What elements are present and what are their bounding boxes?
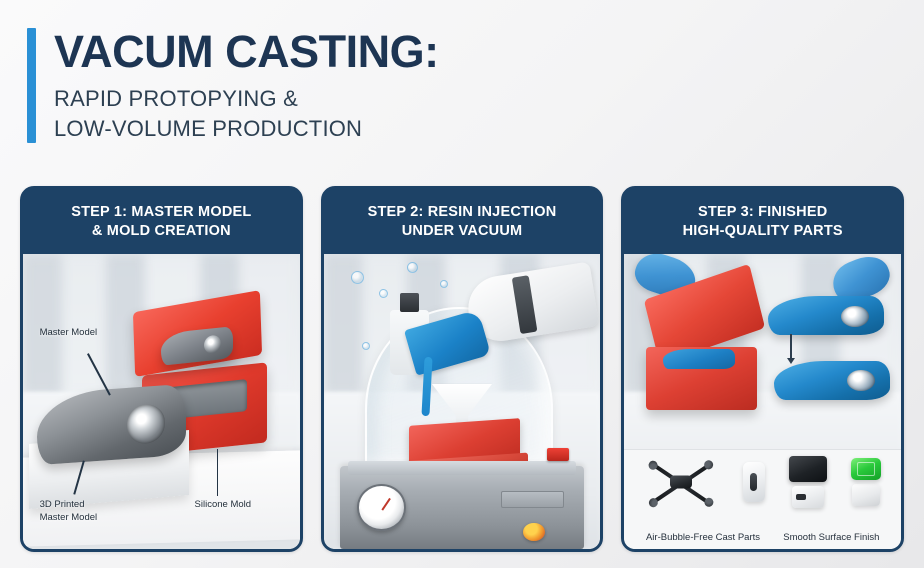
drone-body (670, 476, 692, 489)
arrow-down-icon (790, 334, 792, 359)
step-1-panel: STEP 1: MASTER MODEL & MOLD CREATION Mas… (20, 186, 303, 552)
cast-part-in-mold (663, 349, 735, 368)
step-2-header-line-2: UNDER VACUUM (330, 222, 595, 241)
step-1-image: Master Model 3D Printed Master Model Sil… (23, 254, 300, 549)
leader-line-silicone-mold (217, 449, 219, 496)
caption-air-bubble-free-cast-parts: Air-Bubble-Free Cast Parts (646, 532, 760, 543)
white-enclosure-thumbnail (792, 486, 824, 508)
step-2-panel: STEP 2: RESIN INJECTION UNDER VACUUM (321, 186, 604, 552)
machine-top-plate (348, 461, 577, 476)
step-1-header-line-2: & MOLD CREATION (29, 222, 294, 241)
thumbnail-captions: Air-Bubble-Free Cast Parts Smooth Surfac… (624, 532, 901, 543)
vacuum-casting-machine (340, 466, 583, 549)
callout-master-model: Master Model (40, 327, 98, 340)
machine-nameplate (501, 491, 564, 508)
finished-cast-part-upper (768, 296, 884, 335)
callout-3d-printed-master-model: 3D Printed Master Model (40, 499, 98, 525)
title-block: VACUM CASTING: RAPID PROTOPYING & LOW-VO… (27, 28, 439, 143)
step-3-image: Air-Bubble-Free Cast Parts Smooth Surfac… (624, 254, 901, 549)
page-title: VACUM CASTING: (54, 28, 439, 75)
step-2-header: STEP 2: RESIN INJECTION UNDER VACUUM (324, 189, 601, 254)
infographic-page: VACUM CASTING: RAPID PROTOPYING & LOW-VO… (0, 0, 924, 568)
robotic-arm-joint (512, 275, 537, 334)
black-enclosure-thumbnail (789, 456, 827, 482)
step-2-header-line-1: STEP 2: RESIN INJECTION (330, 203, 595, 222)
drone-thumbnail (644, 461, 718, 503)
product-gallery: Air-Bubble-Free Cast Parts Smooth Surfac… (624, 449, 901, 549)
resin-bottle-cap (400, 293, 419, 312)
control-knob[interactable] (523, 523, 545, 541)
steps-container: STEP 1: MASTER MODEL & MOLD CREATION Mas… (20, 186, 904, 552)
step-1-header: STEP 1: MASTER MODEL & MOLD CREATION (23, 189, 300, 254)
pressure-gauge-icon (357, 484, 406, 530)
caption-smooth-surface-finish: Smooth Surface Finish (783, 532, 879, 543)
step-3-header: STEP 3: FINISHED HIGH-QUALITY PARTS (624, 189, 901, 254)
small-parts-thumbnail-group (851, 458, 881, 506)
enclosure-thumbnail-group (789, 456, 827, 508)
step-3-panel: STEP 3: FINISHED HIGH-QUALITY PARTS (621, 186, 904, 552)
bubble-icon (440, 280, 448, 288)
master-model-lens (205, 335, 222, 355)
step-3-header-line-1: STEP 3: FINISHED (630, 203, 895, 222)
step-2-image (324, 254, 601, 549)
title-accent-bar (27, 28, 36, 143)
cast-part-lens-lower (847, 370, 875, 391)
title-text-group: VACUM CASTING: RAPID PROTOPYING & LOW-VO… (54, 28, 439, 143)
demolding-scene (624, 254, 901, 449)
subtitle-line-1: RAPID PROTOPYING & (54, 84, 439, 113)
callout-silicone-mold: Silicone Mold (195, 499, 252, 512)
printed-model-lens (126, 404, 165, 446)
finished-cast-part-lower (774, 361, 890, 400)
step-1-header-line-1: STEP 1: MASTER MODEL (29, 203, 294, 222)
speaker-housing-thumbnail (743, 462, 765, 502)
subtitle-line-2: LOW-VOLUME PRODUCTION (54, 114, 439, 143)
green-translucent-part-thumbnail (851, 458, 881, 480)
cast-part-lens-upper (841, 306, 869, 327)
product-thumbnails (624, 454, 901, 512)
white-clip-thumbnail (852, 484, 880, 506)
step-3-header-line-2: HIGH-QUALITY PARTS (630, 222, 895, 241)
emergency-stop-button[interactable] (547, 448, 569, 461)
bubble-icon (379, 289, 388, 298)
